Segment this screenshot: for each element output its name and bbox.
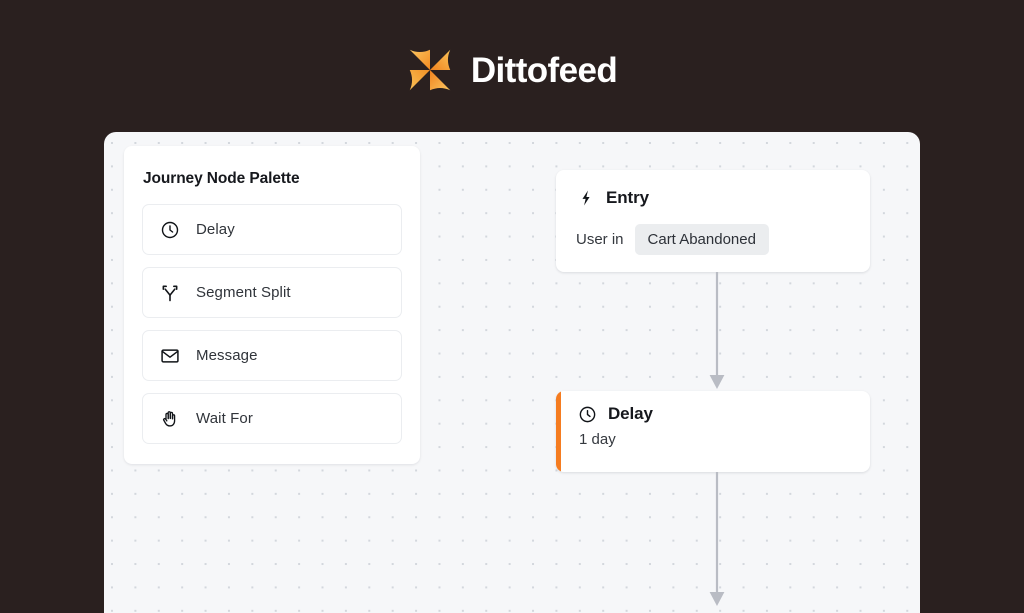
dittofeed-star-logo-icon [407, 47, 453, 93]
delay-node-accent-bar [556, 391, 561, 472]
palette-item-label: Wait For [196, 410, 253, 427]
lightning-bolt-icon [576, 189, 595, 208]
palette-list: Delay Segment Split [142, 204, 402, 444]
journey-node-delay[interactable]: Delay 1 day [556, 391, 870, 472]
palette-item-wait-for[interactable]: Wait For [142, 393, 402, 444]
palette-title: Journey Node Palette [143, 170, 402, 188]
palette-item-label: Segment Split [196, 284, 291, 301]
journey-node-palette: Journey Node Palette Delay [124, 146, 420, 464]
entry-node-title: Entry [606, 188, 649, 208]
split-arrows-icon [159, 282, 181, 304]
envelope-icon [159, 345, 181, 367]
palette-item-label: Delay [196, 221, 235, 238]
brand-name: Dittofeed [471, 53, 617, 88]
palette-item-label: Message [196, 347, 258, 364]
clock-icon [578, 405, 597, 424]
entry-node-header: Entry [576, 188, 850, 208]
delay-node-subtitle: 1 day [579, 431, 850, 448]
clock-icon [159, 219, 181, 241]
entry-segment-chip[interactable]: Cart Abandoned [635, 224, 769, 255]
palette-item-segment-split[interactable]: Segment Split [142, 267, 402, 318]
delay-node-title: Delay [608, 404, 653, 424]
journey-node-entry[interactable]: Entry User in Cart Abandoned [556, 170, 870, 272]
journey-editor-frame: Journey Node Palette Delay [104, 132, 920, 613]
brand-header: Dittofeed [0, 42, 1024, 98]
palette-item-message[interactable]: Message [142, 330, 402, 381]
raised-hand-icon [159, 408, 181, 430]
entry-condition-row: User in Cart Abandoned [576, 224, 850, 255]
entry-condition-prefix: User in [576, 231, 624, 248]
delay-node-header: Delay [578, 404, 850, 424]
palette-item-delay[interactable]: Delay [142, 204, 402, 255]
